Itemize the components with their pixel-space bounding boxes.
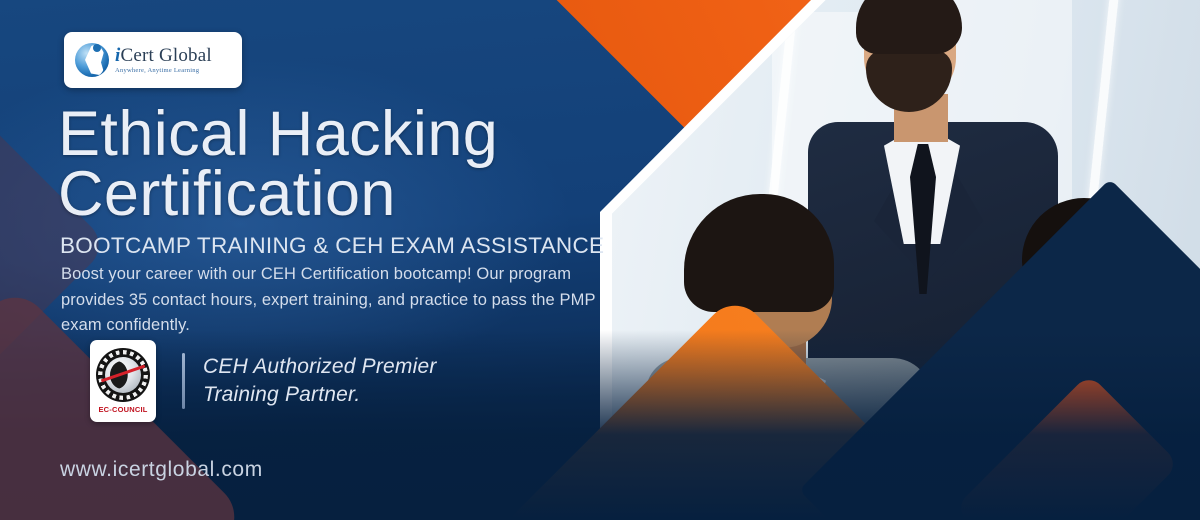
- globe-swoosh-icon: [74, 42, 110, 78]
- brand-name: iCert Global: [115, 46, 212, 65]
- partner-line-2: Training Partner.: [203, 381, 437, 409]
- ec-council-seal-icon: [96, 348, 150, 402]
- ec-council-label: EC-COUNCIL: [98, 405, 147, 414]
- page-title: Ethical Hacking Certification: [58, 104, 638, 225]
- promo-banner: iCert Global Anywhere, Anytime Learning …: [0, 0, 1200, 520]
- subtitle: BOOTCAMP TRAINING & CEH EXAM ASSISTANCE: [60, 233, 604, 259]
- content-column: iCert Global Anywhere, Anytime Learning …: [58, 0, 618, 520]
- website-url[interactable]: www.icertglobal.com: [60, 458, 263, 482]
- partner-line-1: CEH Authorized Premier: [203, 355, 437, 378]
- description-text: Boost your career with our CEH Certifica…: [61, 262, 606, 339]
- partner-text: CEH Authorized Premier Training Partner.: [203, 353, 437, 408]
- person-back-hair: [856, 0, 962, 54]
- headline-line-2: Certification: [58, 164, 638, 224]
- vertical-divider: [182, 353, 185, 409]
- brand-name-rest: Cert Global: [120, 45, 211, 66]
- partner-credential: EC-COUNCIL CEH Authorized Premier Traini…: [90, 340, 437, 422]
- brand-logo[interactable]: iCert Global Anywhere, Anytime Learning: [64, 32, 242, 88]
- brand-tagline: Anywhere, Anytime Learning: [115, 68, 212, 75]
- ec-council-badge: EC-COUNCIL: [90, 340, 156, 422]
